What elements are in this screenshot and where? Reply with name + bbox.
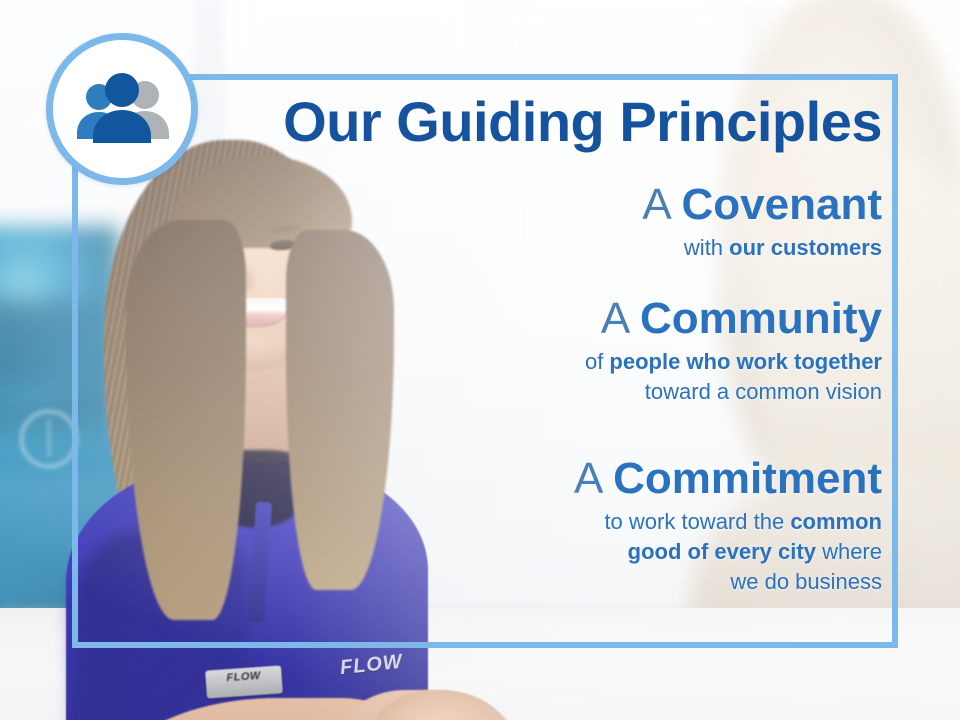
guiding-principles-poster: FLOW FLOW Our Guiding Principles [0, 0, 960, 720]
principle-covenant-title: A Covenant [72, 182, 882, 228]
principle-commitment-word: Commitment [613, 454, 882, 503]
principle-commitment-title: A Commitment [72, 456, 882, 502]
employee-name-badge: FLOW [205, 665, 283, 698]
principle-community-title: A Community [72, 296, 882, 342]
poster-content: Our Guiding Principles A Covenant with o… [72, 74, 898, 648]
principle-community-article: A [601, 294, 628, 343]
principle-covenant-word: Covenant [682, 180, 882, 229]
principle-covenant-article: A [642, 180, 669, 229]
principle-commitment: A Commitment to work toward the commongo… [72, 456, 882, 596]
employee-name-badge-text: FLOW [205, 668, 282, 685]
principle-commitment-article: A [574, 454, 601, 503]
principle-covenant: A Covenant with our customers [72, 182, 882, 263]
principle-community-subtitle: of people who work togethertoward a comm… [72, 347, 882, 406]
principle-community: A Community of people who work togethert… [72, 296, 882, 407]
page-title: Our Guiding Principles [72, 94, 882, 150]
principle-covenant-subtitle: with our customers [72, 233, 882, 263]
principle-commitment-subtitle: to work toward the commongood of every c… [72, 507, 882, 596]
principle-community-word: Community [640, 294, 882, 343]
